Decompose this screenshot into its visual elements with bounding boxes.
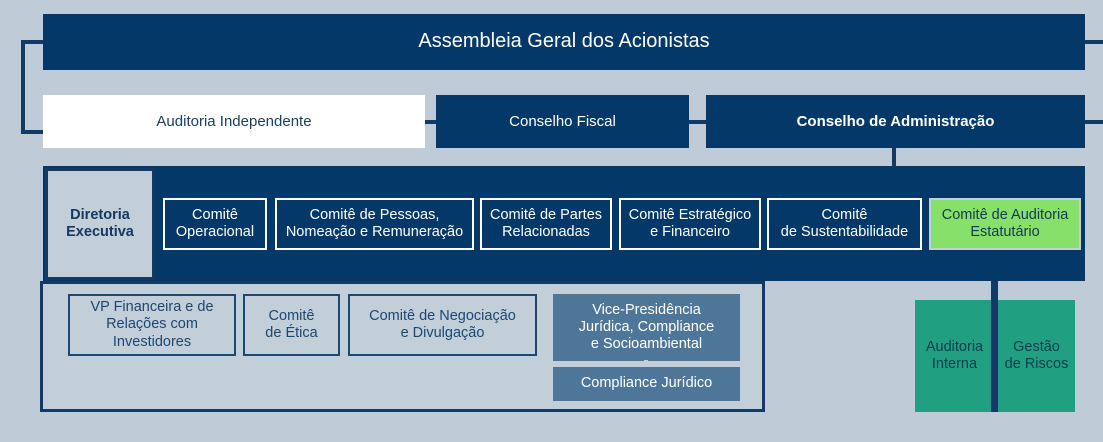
comite-etica-label: Comitê de Ética <box>265 308 317 342</box>
comite-sustentabilidade-box[interactable]: Comitê de Sustentabilidade <box>767 198 922 250</box>
comite-partes-relacionadas-box[interactable]: Comitê de Partes Relacionadas <box>480 198 612 250</box>
comite-negociacao-divulgacao-label: Comitê de Negociação e Divulgação <box>369 308 516 342</box>
conselho-fiscal-box[interactable]: Conselho Fiscal <box>436 95 689 148</box>
comite-pessoas-nomeacao-remuneracao-box[interactable]: Comitê de Pessoas, Nomeação e Remuneraçã… <box>275 198 474 250</box>
comite-operacional-label: Comitê Operacional <box>176 207 254 241</box>
comite-operacional-box[interactable]: Comitê Operacional <box>163 198 267 250</box>
vp-financeira-ri-box[interactable]: VP Financeira e de Relações com Investid… <box>68 294 236 356</box>
assembleia-geral-box[interactable]: Assembleia Geral dos Acionistas <box>43 14 1085 70</box>
diretoria-executiva-box[interactable]: Diretoria Executiva <box>45 168 155 280</box>
comite-negociacao-divulgacao-box[interactable]: Comitê de Negociação e Divulgação <box>348 294 537 356</box>
auditoria-independente-label: Auditoria Independente <box>156 113 311 131</box>
comite-estrategico-financeiro-box[interactable]: Comitê Estratégico e Financeiro <box>619 198 761 250</box>
fiscal-to-board-connector <box>688 120 707 124</box>
board-to-committees-connector <box>892 147 896 168</box>
comite-partes-relacionadas-label: Comitê de Partes Relacionadas <box>490 207 602 241</box>
assurance-divider-line <box>991 281 998 412</box>
conselho-administracao-label: Conselho de Administração <box>797 113 995 131</box>
vp-financeira-ri-label: VP Financeira e de Relações com Investid… <box>90 299 213 350</box>
auditoria-interna-box[interactable]: Auditoria Interna <box>915 300 994 412</box>
comite-etica-box[interactable]: Comitê de Ética <box>243 294 340 356</box>
diretoria-executiva-line2: Executiva <box>66 224 134 240</box>
diretoria-executiva-label: Diretoria Executiva <box>66 207 134 241</box>
comite-auditoria-estatutario-box[interactable]: Comitê de Auditoria Estatutário <box>929 198 1081 250</box>
auditoria-interna-label: Auditoria Interna <box>926 339 983 373</box>
conselho-administracao-box[interactable]: Conselho de Administração <box>706 95 1085 148</box>
vice-presidencia-juridica-box[interactable]: Vice-Presidência Jurídica, Compliance e … <box>553 294 740 361</box>
left-bracket-vertical-line <box>21 40 25 134</box>
assembleia-geral-label: Assembleia Geral dos Acionistas <box>418 30 709 54</box>
comite-sustentabilidade-label: Comitê de Sustentabilidade <box>781 207 908 241</box>
governance-org-chart: Assembleia Geral dos Acionistas Auditori… <box>0 0 1103 442</box>
compliance-juridico-box[interactable]: Compliance Jurídico <box>553 367 740 401</box>
comite-estrategico-financeiro-label: Comitê Estratégico e Financeiro <box>629 207 752 241</box>
conselho-fiscal-label: Conselho Fiscal <box>509 113 616 131</box>
gestao-de-riscos-box[interactable]: Gestão de Riscos <box>998 300 1075 412</box>
auditoria-independente-box[interactable]: Auditoria Independente <box>43 95 425 148</box>
gestao-de-riscos-label: Gestão de Riscos <box>1005 339 1069 373</box>
diretoria-executiva-line1: Diretoria <box>70 207 130 223</box>
comite-pessoas-label: Comitê de Pessoas, Nomeação e Remuneraçã… <box>286 207 463 241</box>
comite-auditoria-estatutario-label: Comitê de Auditoria Estatutário <box>942 207 1069 241</box>
vice-presidencia-juridica-label: Vice-Presidência Jurídica, Compliance e … <box>579 302 714 353</box>
compliance-juridico-label: Compliance Jurídico <box>581 375 712 392</box>
audit-to-fiscal-connector <box>423 120 437 124</box>
